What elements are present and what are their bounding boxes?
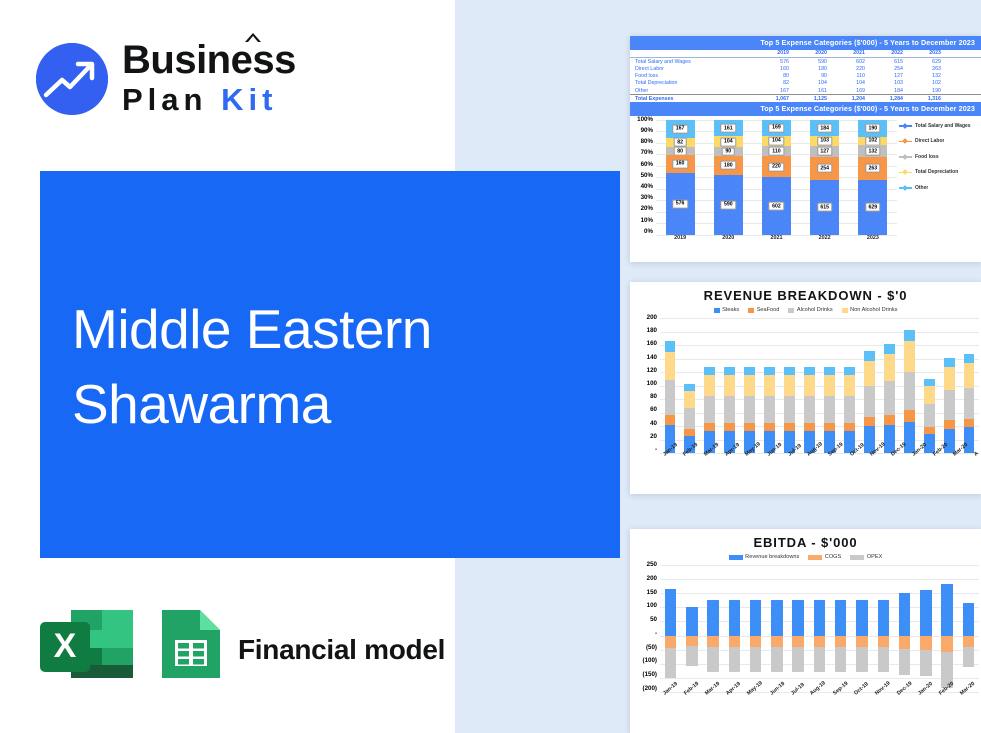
expense-chart-x-labels: 20192020202120222023 [656, 235, 897, 241]
circumflex-accent-icon [245, 33, 261, 42]
revenue-chart-plot: 20018016014012010080604020- Jan-19Feb-19… [630, 315, 981, 453]
brand-line1-text: Business [122, 38, 296, 82]
expense-table: 20192020202120222023Total Salary and Wag… [630, 50, 981, 103]
revenue-breakdown-screenshot[interactable]: REVENUE BREAKDOWN - $'0 SteaksSeaFoodAlc… [630, 282, 981, 494]
brand-line2-kit: Kit [221, 82, 277, 117]
ebitda-screenshot[interactable]: EBITDA - $'000 Revenue breakdownsCOGSOPE… [630, 529, 981, 733]
ebitda-chart-plot: 25020015010050-(50)(100)(150)(200) Jan-1… [630, 562, 981, 692]
ebitda-chart-x-labels: Jan-19Feb-19Mar-19Apr-19May-19Jun-19Jul-… [660, 692, 979, 698]
expense-chart-bars: 1678280160576161104901805901691041102206… [656, 120, 897, 235]
revenue-chart-y-axis: 20018016014012010080604020- [630, 315, 660, 453]
table-row: Other167161169184190 [630, 87, 981, 95]
brand-name-line1: Business [122, 38, 296, 82]
brand-line2-plan: Plan [122, 82, 207, 117]
table-row: Direct Labor160180220254263 [630, 65, 981, 72]
ebitda-chart-y-axis: 25020015010050-(50)(100)(150)(200) [630, 562, 660, 692]
growth-arrow-icon [36, 43, 108, 115]
page-title: Middle Eastern Shawarma [72, 292, 592, 442]
google-sheets-icon [158, 608, 224, 680]
table-row: Total Salary and Wages576590602615629 [630, 58, 981, 66]
expense-categories-screenshot[interactable]: Top 5 Expense Categories ($'000) - 5 Yea… [630, 36, 981, 262]
table-row: Total Expenses1,0671,1251,2041,2841,316 [630, 95, 981, 103]
revenue-chart-title: REVENUE BREAKDOWN - $'0 [630, 288, 981, 303]
expense-chart-legend: Total Salary and WagesDirect LaborFood l… [899, 123, 979, 191]
microsoft-excel-icon: X [38, 608, 135, 680]
ebitda-chart-title: EBITDA - $'000 [630, 535, 981, 550]
expense-chart-title: Top 5 Expense Categories ($'000) - 5 Yea… [630, 102, 981, 116]
revenue-chart-x-labels: Jan-19Feb-19Mar-19Apr-19May-19Jun-19Jul-… [660, 453, 979, 459]
expense-chart-y-axis: 100%90%80%70%60%50%40%30%20%10%0% [630, 117, 656, 235]
ebitda-chart-legend: Revenue breakdownsCOGSOPEX [630, 554, 981, 560]
revenue-chart-legend: SteaksSeaFoodAlcohol DrinksNon Alcohol D… [630, 307, 981, 313]
revenue-chart-bars [660, 318, 979, 453]
brand-name-line2: Plan Kit [122, 82, 296, 118]
ebitda-trend-line [660, 565, 979, 733]
financial-model-label: Financial model [238, 634, 445, 666]
expense-table-title: Top 5 Expense Categories ($'000) - 5 Yea… [630, 36, 981, 50]
table-row: Food loss8090110127132 [630, 73, 981, 80]
brand-logo: Business Plan Kit [36, 34, 336, 122]
svg-text:X: X [54, 627, 77, 665]
expense-stacked-chart: 100%90%80%70%60%50%40%30%20%10%0% 167828… [630, 117, 981, 235]
table-row: Total Depreciation82104104103102 [630, 80, 981, 87]
